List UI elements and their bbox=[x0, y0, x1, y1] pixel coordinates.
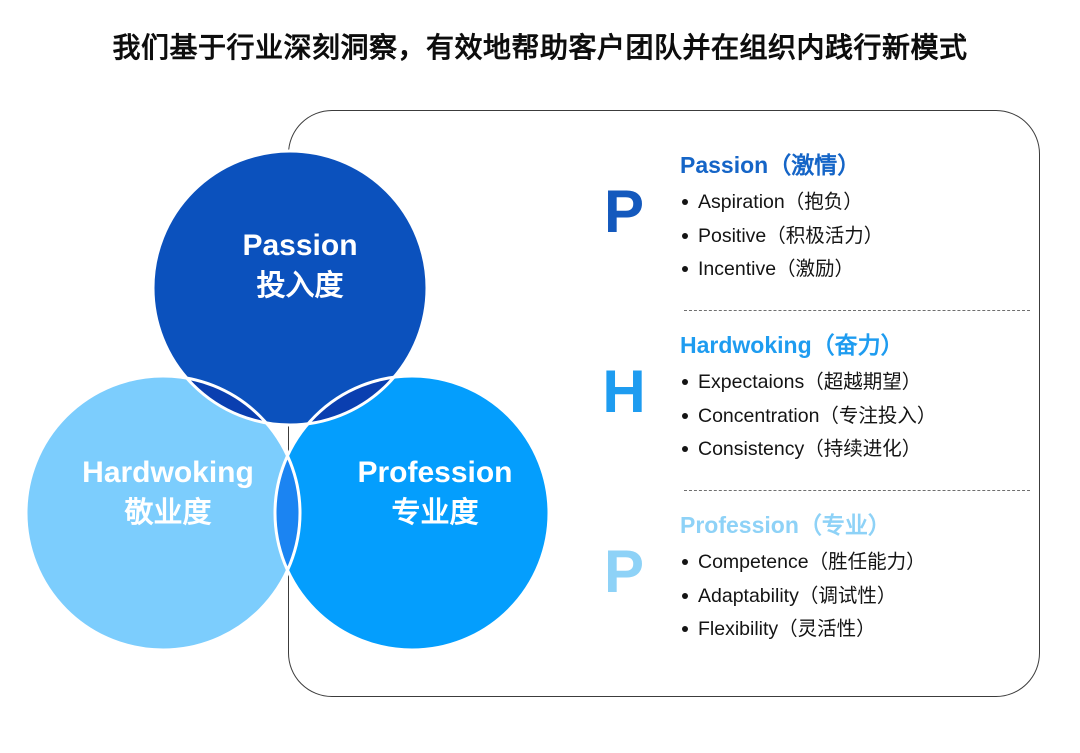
legend-body-profession: Profession（专业） Competence（胜任能力） Adaptabi… bbox=[652, 506, 1048, 647]
legend-items-passion: Aspiration（抱负） Positive（积极活力） Incentive（… bbox=[680, 186, 1048, 287]
legend-letter-p-profession: P bbox=[596, 542, 652, 602]
list-item: Competence（胜任能力） bbox=[680, 546, 1048, 580]
legend-items-profession: Competence（胜任能力） Adaptability（调试性） Flexi… bbox=[680, 546, 1048, 647]
list-item: Consistency（持续进化） bbox=[680, 433, 1048, 467]
legend-letter-h-hardwoking: H bbox=[596, 362, 652, 422]
list-item: Positive（积极活力） bbox=[680, 220, 1048, 254]
legend-list: P Passion（激情） Aspiration（抱负） Positive（积极… bbox=[596, 140, 1048, 685]
legend-block-profession: P Profession（专业） Competence（胜任能力） Adapta… bbox=[596, 506, 1048, 647]
legend-heading-hardwoking: Hardwoking（奋力） bbox=[680, 326, 1048, 360]
list-item: Incentive（激励） bbox=[680, 253, 1048, 287]
legend-letter-p-passion: P bbox=[596, 182, 652, 242]
legend-heading-profession: Profession（专业） bbox=[680, 506, 1048, 540]
list-item: Expectaions（超越期望） bbox=[680, 366, 1048, 400]
list-item: Adaptability（调试性） bbox=[680, 580, 1048, 614]
list-item: Concentration（专注投入） bbox=[680, 400, 1048, 434]
legend-body-passion: Passion（激情） Aspiration（抱负） Positive（积极活力… bbox=[652, 146, 1048, 287]
legend-items-hardwoking: Expectaions（超越期望） Concentration（专注投入） Co… bbox=[680, 366, 1048, 467]
list-item: Flexibility（灵活性） bbox=[680, 613, 1048, 647]
legend-divider-1 bbox=[684, 310, 1030, 311]
legend-body-hardwoking: Hardwoking（奋力） Expectaions（超越期望） Concent… bbox=[652, 326, 1048, 467]
venn-diagram: Passion 投入度 Hardwoking 敬业度 Profession 专业… bbox=[10, 140, 580, 670]
list-item: Aspiration（抱负） bbox=[680, 186, 1048, 220]
legend-block-hardwoking: H Hardwoking（奋力） Expectaions（超越期望） Conce… bbox=[596, 326, 1048, 467]
legend-divider-2 bbox=[684, 490, 1030, 491]
page-title: 我们基于行业深刻洞察，有效地帮助客户团队并在组织内践行新模式 bbox=[0, 26, 1080, 66]
legend-heading-passion: Passion（激情） bbox=[680, 146, 1048, 180]
legend-block-passion: P Passion（激情） Aspiration（抱负） Positive（积极… bbox=[596, 146, 1048, 287]
